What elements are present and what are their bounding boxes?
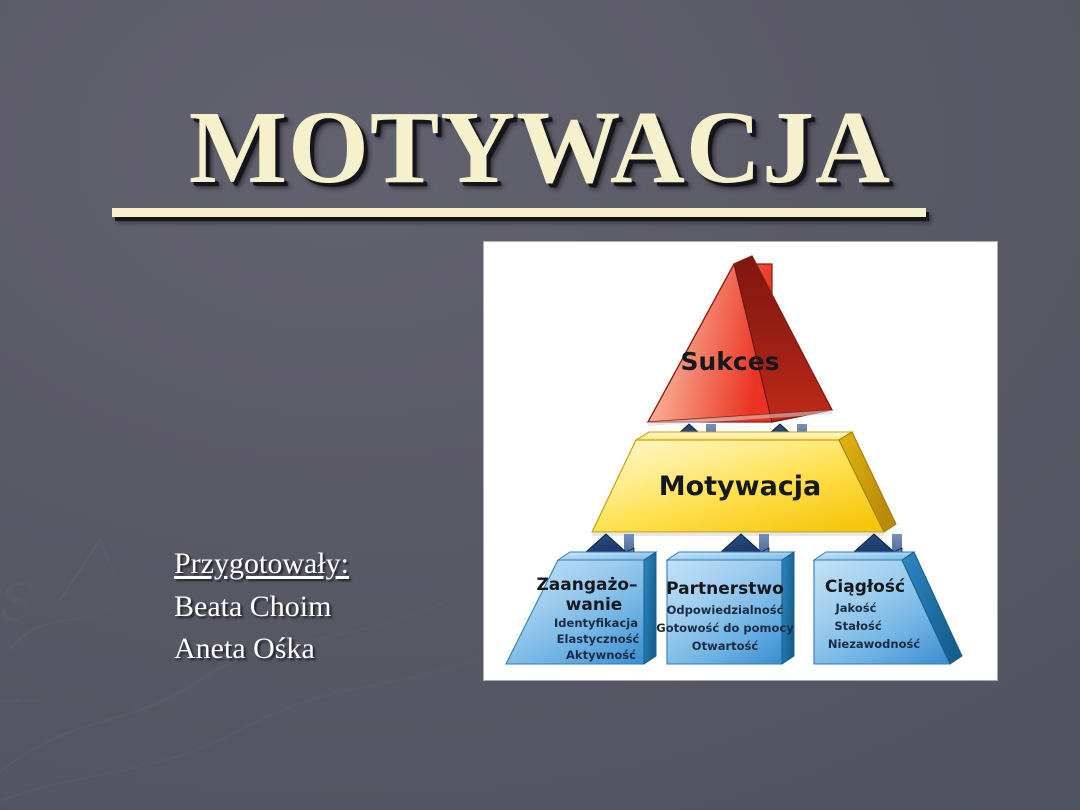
motivation-pyramid-figure: Sukces xyxy=(484,242,997,680)
author-name-2: Aneta Ośka xyxy=(174,628,349,671)
slide-title-block: MOTYWACJA xyxy=(0,96,1080,206)
base-block-3-item-2: Stałość xyxy=(834,619,882,633)
diagram-middle-motywacja: Motywacja xyxy=(592,432,896,536)
diagram-base-block-2: Partnerstwo Odpowiedzialność Gotowość do… xyxy=(656,552,794,664)
base-block-2-label-line1: Partnerstwo xyxy=(666,579,784,599)
svg-text:——: —— xyxy=(0,679,56,719)
authors-lead-label: Przygotowały: xyxy=(174,543,349,586)
diagram-top-label: Sukces xyxy=(680,347,779,376)
base-block-2-item-1: Odpowiedzialność xyxy=(667,603,784,617)
author-name-1: Beata Choim xyxy=(174,586,349,629)
base-block-3-label-line1: Ciągłość xyxy=(825,577,905,597)
page-title: MOTYWACJA xyxy=(185,96,895,206)
base-block-3-item-3: Niezawodność xyxy=(828,637,921,651)
base-block-2-item-3: Otwartość xyxy=(692,639,759,653)
base-block-2-item-2: Gotowość do pomocy xyxy=(656,621,794,635)
base-block-1-item-1: Identyfikacja xyxy=(554,616,638,630)
svg-text:s: s xyxy=(0,553,37,637)
presentation-slide: s —— MOTYWACJA Przygotowały: Beata Choim… xyxy=(0,0,1080,810)
base-block-1-label-line1: Zaangażo– xyxy=(536,575,637,595)
base-block-1-item-3: Aktywność xyxy=(566,648,636,662)
base-block-1-item-2: Elastyczność xyxy=(557,632,640,646)
base-block-3-item-1: Jakość xyxy=(835,601,877,615)
authors-block: Przygotowały: Beata Choim Aneta Ośka xyxy=(174,543,349,671)
base-block-1-label-line2: wanie xyxy=(566,595,623,615)
diagram-middle-label: Motywacja xyxy=(659,471,822,502)
title-underline-rule xyxy=(112,208,926,217)
